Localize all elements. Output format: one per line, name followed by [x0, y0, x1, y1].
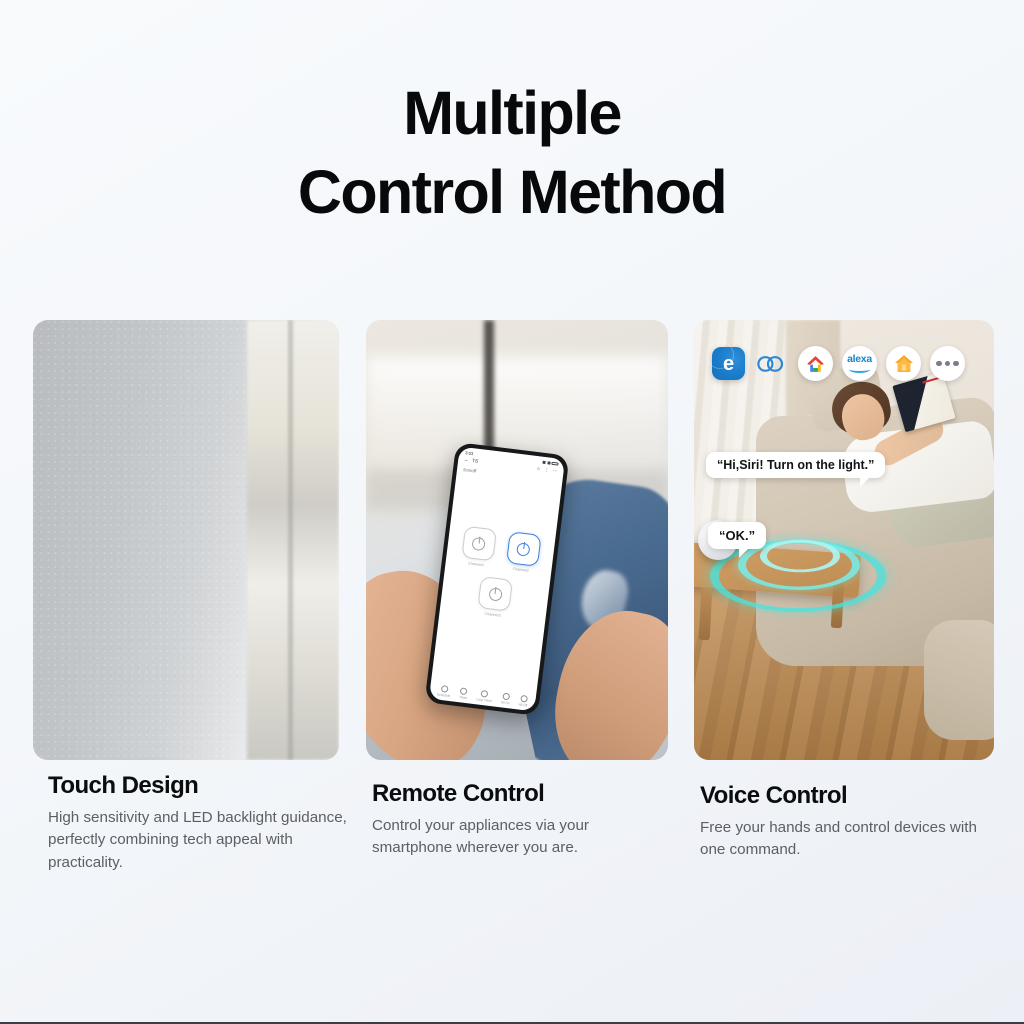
panel-remote-control: 3:03 ← T6 ☆ ⋮ ⋯ Sonoff [366, 320, 668, 760]
power-icon [471, 536, 485, 550]
signal-icon [543, 461, 546, 465]
tab-all-off[interactable]: All Off [518, 694, 528, 707]
sofa-armrest [924, 620, 994, 740]
link-glyph [757, 355, 787, 373]
app-bar-left[interactable]: ← T6 [464, 457, 478, 465]
channel-tile-2[interactable]: Channel2 [505, 531, 542, 574]
title-line-1: Multiple [0, 74, 1024, 153]
tab-loop-timer[interactable]: Loop Timer [476, 689, 493, 703]
caption-remote-control: Remote Control Control your appliances v… [372, 780, 662, 860]
page-title: Multiple Control Method [0, 74, 1024, 231]
app-bar-right[interactable]: ☆ ⋮ ⋯ [536, 466, 558, 475]
all-on-icon [502, 692, 510, 700]
caption-touch-design: Touch Design High sensitivity and LED ba… [48, 772, 348, 874]
tab-label: All Off [518, 703, 527, 708]
ewelink-icon[interactable]: e [712, 347, 745, 380]
smartthings-link-icon[interactable] [754, 346, 789, 381]
channel-label: Channel3 [484, 612, 501, 618]
tab-all-on[interactable]: All On [501, 692, 511, 705]
speech-bubble-siri: “Hi,Siri! Turn on the light.” [706, 452, 885, 478]
caption-title: Touch Design [48, 772, 348, 800]
google-home-glyph [805, 354, 826, 374]
caption-title: Voice Control [700, 782, 990, 810]
caption-body: Free your hands and control devices with… [700, 817, 990, 862]
channel-label: Channel2 [512, 567, 529, 573]
caption-title: Remote Control [372, 780, 662, 808]
caption-body: High sensitivity and LED backlight guida… [48, 807, 348, 874]
apple-homekit-icon[interactable] [886, 346, 921, 381]
panel-touch-design [33, 320, 339, 760]
channel-tile-grid: Channel1 Channel2 Channel3 [440, 524, 556, 623]
title-line-2: Control Method [0, 153, 1024, 232]
tab-timer[interactable]: Timer [459, 687, 468, 700]
all-off-icon [520, 694, 528, 702]
three-dots-glyph [936, 361, 959, 367]
window-light [247, 320, 339, 760]
homekit-glyph [893, 353, 915, 374]
window-frame [288, 320, 293, 760]
more-badge-icon[interactable] [930, 346, 965, 381]
caption-voice-control: Voice Control Free your hands and contro… [700, 782, 990, 862]
timer-icon [460, 687, 468, 695]
ecosystem-badge-row: e alexa [712, 346, 965, 381]
share-icon[interactable]: ☆ [536, 466, 541, 473]
channel-tile-1[interactable]: Channel1 [460, 526, 497, 569]
caption-body: Control your appliances via your smartph… [372, 815, 662, 860]
status-time: 3:03 [465, 450, 474, 456]
channel-label: Channel1 [468, 561, 485, 567]
power-tile[interactable] [477, 576, 513, 612]
power-tile-active[interactable] [506, 531, 542, 567]
power-tile[interactable] [461, 526, 497, 562]
back-arrow-icon[interactable]: ← [464, 457, 470, 464]
power-icon [488, 587, 502, 601]
info-icon[interactable]: ⋮ [544, 467, 550, 474]
alexa-glyph: alexa [847, 354, 872, 373]
speech-bubble-ok: “OK.” [708, 522, 766, 549]
wifi-icon [547, 461, 550, 465]
voice-wave-inner [760, 540, 840, 573]
panel-voice-control: e alexa [694, 320, 994, 760]
loop-icon [481, 689, 489, 697]
more-icon[interactable]: ⋯ [552, 468, 558, 475]
power-icon [516, 542, 530, 556]
tab-label: All On [501, 700, 510, 705]
alexa-smile-icon [849, 366, 870, 373]
tab-label: Schedule [437, 693, 451, 699]
tab-label: Loop Timer [476, 697, 492, 703]
tab-label: Timer [459, 695, 467, 700]
amazon-alexa-icon[interactable]: alexa [842, 346, 877, 381]
device-name-label: T6 [472, 458, 479, 465]
clock-icon [441, 685, 449, 693]
battery-icon [551, 461, 558, 465]
app-tab-bar: Schedule Timer Loop Timer All On All Off [429, 683, 536, 708]
tab-schedule[interactable]: Schedule [437, 684, 452, 698]
channel-tile-3[interactable]: Channel3 [476, 576, 513, 619]
google-home-icon[interactable] [798, 346, 833, 381]
